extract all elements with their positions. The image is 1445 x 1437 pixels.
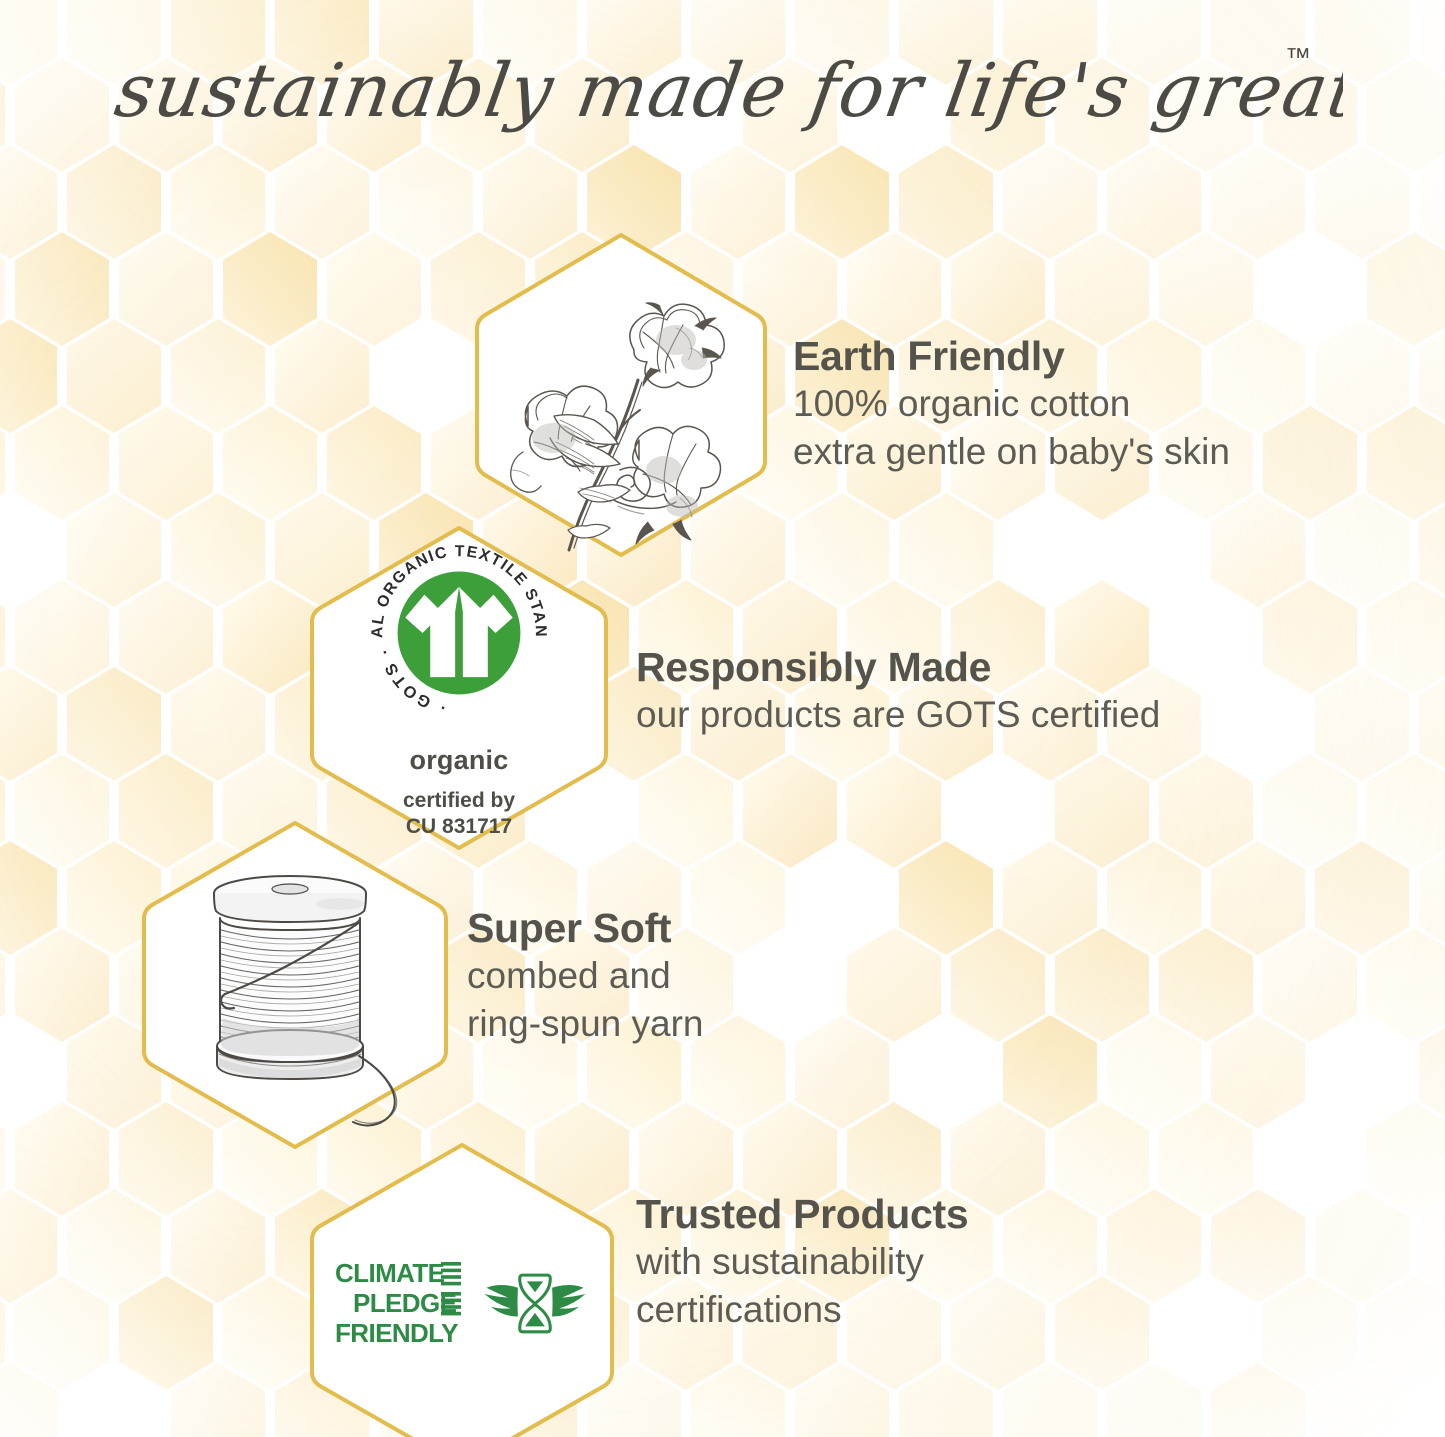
feature-line-2: extra gentle on baby's skin [793, 428, 1230, 475]
gots-green-disc [398, 571, 521, 694]
feature-line-1: with sustainability [636, 1238, 968, 1285]
feature-description: with sustainability certifications [636, 1238, 968, 1333]
feature-line-2: ring-spun yarn [467, 1000, 704, 1047]
feature-card-responsibly-made: GLOBAL ORGANIC TEXTILE STANDARD · GOTS ·… [303, 523, 615, 853]
gots-certified-by: certified by [403, 788, 515, 814]
feature-card-trusted-products: CLIMATE PLEDGE [303, 1140, 621, 1437]
page-tagline: sustainably made for life's greatest joy… [0, 36, 1445, 144]
trademark-symbol: ™ [1285, 42, 1311, 72]
feature-line-1: 100% organic cotton [793, 380, 1230, 427]
feature-title: Trusted Products [636, 1192, 968, 1236]
feature-title: Earth Friendly [793, 334, 1230, 378]
feature-card-super-soft [135, 818, 455, 1152]
tagline-script: sustainably made for life's greatest joy [109, 47, 1343, 133]
feature-line-2: certifications [636, 1286, 968, 1333]
gots-organic-seal-icon: GLOBAL ORGANIC TEXTILE STANDARD · GOTS ·… [303, 523, 615, 853]
feature-title: Super Soft [467, 906, 704, 950]
feature-description: our products are GOTS certified [636, 691, 1160, 738]
climate-pledge-friendly-icon: CLIMATE PLEDGE [303, 1140, 621, 1437]
feature-title: Responsibly Made [636, 645, 1160, 689]
cotton-plant-sketch-icon [468, 230, 774, 560]
feature-copy-super-soft: Super Soft combed and ring-spun yarn [467, 906, 704, 1047]
feature-description: combed and ring-spun yarn [467, 952, 704, 1047]
feature-copy-earth-friendly: Earth Friendly 100% organic cotton extra… [793, 334, 1230, 475]
feature-card-earth-friendly [468, 230, 774, 560]
winged-hourglass-icon [481, 1264, 589, 1342]
thread-spool-sketch-icon [135, 818, 455, 1152]
feature-description: 100% organic cotton extra gentle on baby… [793, 380, 1230, 475]
feature-line-1: combed and [467, 952, 704, 999]
feature-copy-responsibly-made: Responsibly Made our products are GOTS c… [636, 645, 1160, 739]
cpf-word-friendly: FRIENDLY [335, 1319, 458, 1347]
gots-organic-label: organic [410, 745, 509, 776]
cpf-wordmark: CLIMATE PLEDGE [335, 1259, 463, 1347]
feature-line-1: our products are GOTS certified [636, 691, 1160, 738]
feature-copy-trusted-products: Trusted Products with sustainability cer… [636, 1192, 968, 1333]
infographic-canvas: sustainably made for life's greatest joy… [0, 0, 1445, 1437]
cpf-word-climate: CLIMATE [335, 1259, 445, 1287]
